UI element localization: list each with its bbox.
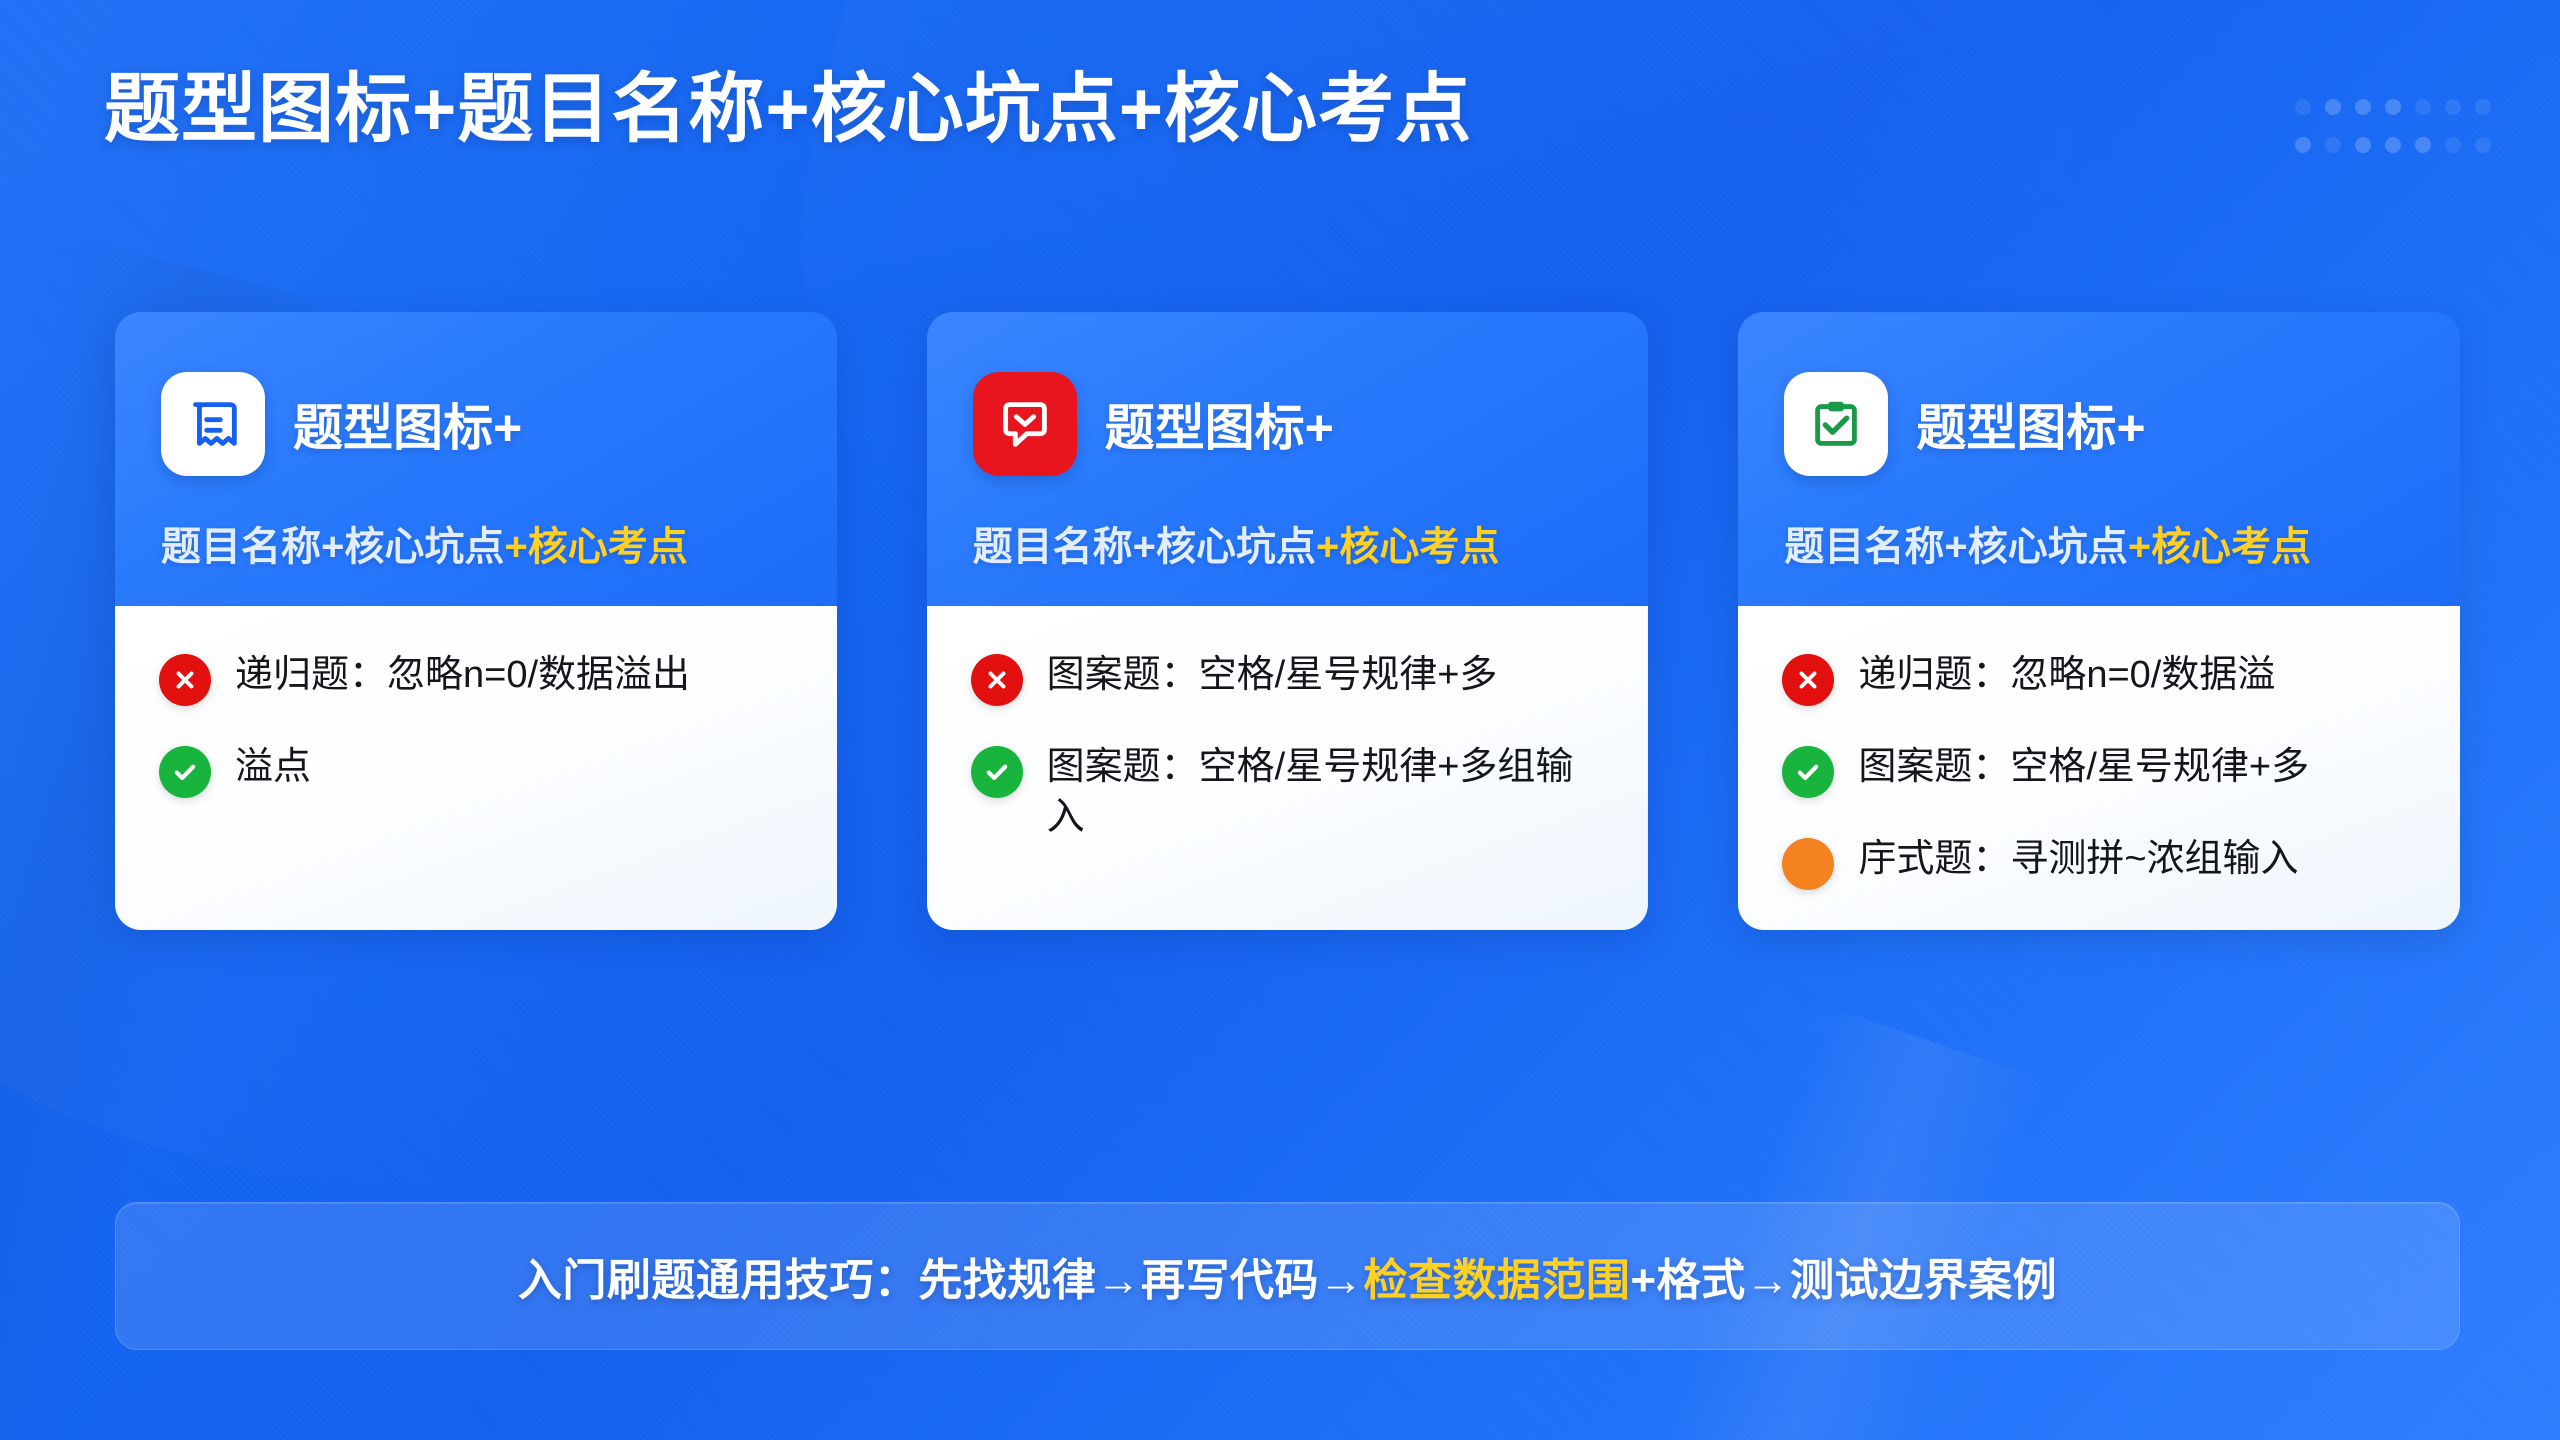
card-3[interactable]: 题型图标+ 题目名称+核心坑点+核心考点 递归题：忽略n=0/数据溢 图案题：空… (1738, 312, 2460, 930)
card-2-title: 题型图标+ (1105, 388, 1334, 460)
card-3-header: 题型图标+ 题目名称+核心坑点+核心考点 (1738, 312, 2460, 606)
list-item: 㡰式题：寻测拼~浓组输入 (1782, 834, 2416, 890)
list-item-text: 递归题：忽略n=0/数据溢 (1858, 650, 2275, 700)
message-check-icon (973, 372, 1077, 476)
dot-icon (2325, 99, 2341, 115)
success-check-icon (971, 746, 1023, 798)
list-item-text: 图案题：空格/星号规律+多 (1047, 650, 1498, 700)
tips-banner-text: 入门刷题通用技巧：先找规律→再写代码→检查数据范围+格式→测试边界案例 (518, 1244, 2057, 1308)
list-item: 图案题：空格/星号规律+多组输入 (971, 742, 1605, 842)
dot-icon (2325, 137, 2341, 153)
dot-icon (2415, 99, 2431, 115)
dot-icon (2355, 137, 2371, 153)
card-3-subtitle-highlight: +核心考点 (2128, 525, 2311, 569)
success-check-icon (1782, 746, 1834, 798)
card-3-head: 题型图标+ (1784, 372, 2414, 476)
card-1-subtitle: 题目名称+核心坑点+核心考点 (161, 514, 791, 572)
card-1-subtitle-highlight: +核心考点 (504, 525, 687, 569)
dot-icon (2355, 99, 2371, 115)
error-x-icon (971, 654, 1023, 706)
dot-icon (2445, 137, 2461, 153)
clipboard-check-icon (1784, 372, 1888, 476)
card-2-subtitle-highlight: +核心考点 (1316, 525, 1499, 569)
document-lines-icon (161, 372, 265, 476)
card-3-body: 递归题：忽略n=0/数据溢 图案题：空格/星号规律+多 㡰式题：寻测拼~浓组输入 (1738, 606, 2460, 930)
dot-icon (2385, 137, 2401, 153)
card-1-header: 题型图标+ 题目名称+核心坑点+核心考点 (115, 312, 837, 606)
list-item: 递归题：忽略n=0/数据溢 (1782, 650, 2416, 706)
card-2-subtitle-plain: 题目名称+核心坑点 (973, 525, 1316, 569)
list-item-text: 㡰式题：寻测拼~浓组输入 (1858, 834, 2298, 884)
card-1[interactable]: 题型图标+ 题目名称+核心坑点+核心考点 递归题：忽略n=0/数据溢出 溢点 (115, 312, 837, 930)
tips-part-1: 入门刷题通用技巧：先找规律→再写代码→ (518, 1256, 1364, 1305)
card-1-body: 递归题：忽略n=0/数据溢出 溢点 (115, 606, 837, 930)
tips-part-2: +格式→测试边界案例 (1630, 1256, 2057, 1305)
error-x-icon (159, 654, 211, 706)
card-2[interactable]: 题型图标+ 题目名称+核心坑点+核心考点 图案题：空格/星号规律+多 图案题：空… (927, 312, 1649, 930)
list-item-text: 图案题：空格/星号规律+多 (1858, 742, 2309, 792)
list-item: 溢点 (159, 742, 793, 798)
tips-banner: 入门刷题通用技巧：先找规律→再写代码→检查数据范围+格式→测试边界案例 (115, 1202, 2460, 1350)
list-item: 递归题：忽略n=0/数据溢出 (159, 650, 793, 706)
success-check-icon (159, 746, 211, 798)
dot-grid-decoration (2288, 88, 2498, 164)
dot-icon (2295, 137, 2311, 153)
card-1-head: 题型图标+ (161, 372, 791, 476)
dot-icon (2385, 99, 2401, 115)
dot-icon (2295, 99, 2311, 115)
card-2-subtitle: 题目名称+核心坑点+核心考点 (973, 514, 1603, 572)
card-1-subtitle-plain: 题目名称+核心坑点 (161, 525, 504, 569)
list-item: 图案题：空格/星号规律+多 (971, 650, 1605, 706)
dot-icon (2475, 137, 2491, 153)
card-3-subtitle: 题目名称+核心坑点+核心考点 (1784, 514, 2414, 572)
list-item-text: 递归题：忽略n=0/数据溢出 (235, 650, 690, 700)
page-title: 题型图标+题目名称+核心坑点+核心考点 (104, 62, 1472, 157)
card-3-title: 题型图标+ (1916, 388, 2145, 460)
list-item-text: 图案题：空格/星号规律+多组输入 (1047, 742, 1605, 842)
card-3-subtitle-plain: 题目名称+核心坑点 (1784, 525, 2127, 569)
tips-highlight: 检查数据范围 (1363, 1256, 1630, 1305)
list-item: 图案题：空格/星号规律+多 (1782, 742, 2416, 798)
dot-icon (2475, 99, 2491, 115)
error-x-icon (1782, 654, 1834, 706)
cards-row: 题型图标+ 题目名称+核心坑点+核心考点 递归题：忽略n=0/数据溢出 溢点 (115, 312, 2460, 930)
dot-icon (2415, 137, 2431, 153)
card-1-title: 题型图标+ (293, 388, 522, 460)
warning-dot-icon (1782, 838, 1834, 890)
list-item-text: 溢点 (235, 742, 311, 792)
card-2-body: 图案题：空格/星号规律+多 图案题：空格/星号规律+多组输入 (927, 606, 1649, 930)
card-2-head: 题型图标+ (973, 372, 1603, 476)
card-2-header: 题型图标+ 题目名称+核心坑点+核心考点 (927, 312, 1649, 606)
dot-icon (2445, 99, 2461, 115)
